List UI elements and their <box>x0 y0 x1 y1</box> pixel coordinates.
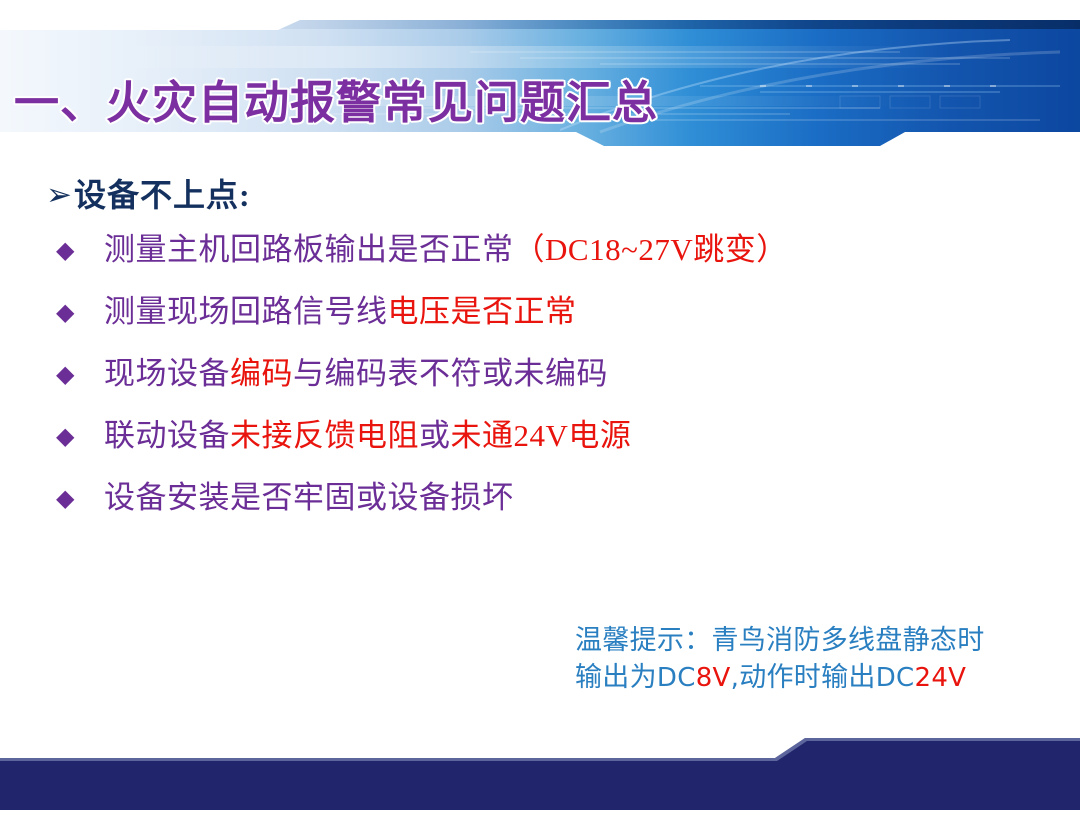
page-title-container: 一、火灾自动报警常见问题汇总 <box>14 66 854 130</box>
tip-text-segment: , <box>731 663 740 693</box>
diamond-bullet-icon: ◆ <box>56 292 82 332</box>
bullet-text-segment: 或 <box>419 418 451 453</box>
bullet-item: ◆联动设备未接反馈电阻或未通24V电源 <box>56 416 1016 478</box>
section-heading: ➢ 设备不上点: <box>46 170 251 216</box>
bullet-text-segment: 电压是否正常 <box>388 294 577 329</box>
slide-content: ➢ 设备不上点: ◆测量主机回路板输出是否正常（DC18~27V跳变）◆测量现场… <box>0 152 1080 742</box>
tip-text-segment: DC <box>876 663 915 693</box>
bullet-item: ◆测量主机回路板输出是否正常（DC18~27V跳变） <box>56 230 1016 292</box>
bullet-text-segment: 未接反馈电阻 <box>230 418 419 453</box>
bullet-text-segment: 与编码表不符或未编码 <box>293 356 608 391</box>
diamond-bullet-icon: ◆ <box>56 230 82 270</box>
bullet-item-text: 测量主机回路板输出是否正常（DC18~27V跳变） <box>104 230 788 270</box>
bullet-text-segment: 测量主机回路板输出是否正常 <box>104 232 514 267</box>
bullet-text-segment: 未通24V电源 <box>451 418 632 453</box>
bullet-item-text: 设备安装是否牢固或设备损坏 <box>104 478 514 518</box>
bullet-item-text: 现场设备编码与编码表不符或未编码 <box>104 354 608 394</box>
diamond-bullet-icon: ◆ <box>56 354 82 394</box>
footer-graphic <box>0 730 1080 810</box>
bullet-text-segment: 编码 <box>230 356 293 391</box>
bullet-text-segment: 测量现场回路信号线 <box>104 294 388 329</box>
page-title: 一、火灾自动报警常见问题汇总 <box>14 66 658 131</box>
section-heading-label: 设备不上点: <box>74 170 251 216</box>
bullet-list: ◆测量主机回路板输出是否正常（DC18~27V跳变）◆测量现场回路信号线电压是否… <box>56 230 1016 540</box>
tip-text-segment: 输出为 <box>575 662 657 692</box>
tip-text-segment: DC <box>657 663 696 693</box>
tip-note: 温馨提示：青鸟消防多线盘静态时 输出为DC8V,动作时输出DC24V <box>575 622 1005 697</box>
diamond-bullet-icon: ◆ <box>56 478 82 518</box>
header-banner: 一、火灾自动报警常见问题汇总 <box>0 0 1080 152</box>
bullet-text-segment: 联动设备 <box>104 418 230 453</box>
tip-text-segment: 动作时输出 <box>739 662 876 692</box>
bullet-item: ◆现场设备编码与编码表不符或未编码 <box>56 354 1016 416</box>
bullet-item-text: 测量现场回路信号线电压是否正常 <box>104 292 577 332</box>
tip-text-segment: 24V <box>914 663 966 693</box>
bullet-item: ◆设备安装是否牢固或设备损坏 <box>56 478 1016 540</box>
bullet-text-segment: 现场设备 <box>104 356 230 391</box>
bullet-text-segment: （DC18~27V跳变） <box>514 232 788 267</box>
bullet-text-segment: 设备安装是否牢固或设备损坏 <box>104 480 514 515</box>
tip-text-segment: 8V <box>696 663 731 693</box>
tip-note-line-1: 温馨提示：青鸟消防多线盘静态时 <box>575 622 1005 659</box>
bullet-item-text: 联动设备未接反馈电阻或未通24V电源 <box>104 416 631 456</box>
tip-note-line-2: 输出为DC8V,动作时输出DC24V <box>575 659 1005 697</box>
footer-bar <box>0 730 1080 810</box>
arrow-bullet-icon: ➢ <box>46 180 72 211</box>
diamond-bullet-icon: ◆ <box>56 416 82 456</box>
bullet-item: ◆测量现场回路信号线电压是否正常 <box>56 292 1016 354</box>
